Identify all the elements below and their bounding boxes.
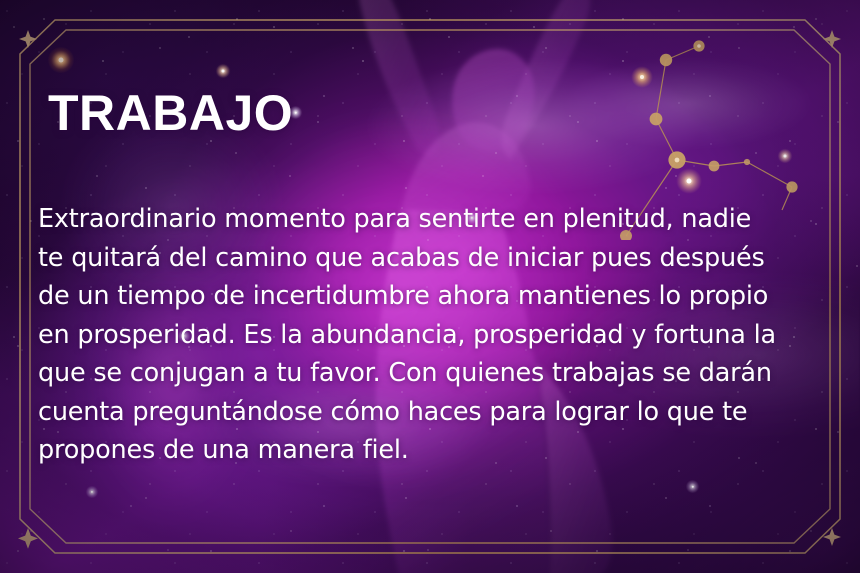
body-line: de un tiempo de incertidumbre ahora mant…: [38, 277, 838, 316]
body-line: Extraordinario momento para sentirte en …: [38, 200, 838, 239]
body-line: cuenta preguntándose cómo haces para log…: [38, 393, 838, 432]
horoscope-body-text: Extraordinario momento para sentirte en …: [38, 200, 838, 470]
body-line: que se conjugan a tu favor. Con quienes …: [38, 354, 838, 393]
body-line: en prosperidad. Es la abundancia, prospe…: [38, 316, 838, 355]
horoscope-card: TRABAJO Extraordinario momento para sent…: [0, 0, 860, 573]
card-content: TRABAJO Extraordinario momento para sent…: [0, 0, 860, 573]
body-line: propones de una manera fiel.: [38, 431, 838, 470]
page-title: TRABAJO: [48, 88, 293, 138]
body-line: te quitará del camino que acabas de inic…: [38, 239, 838, 278]
